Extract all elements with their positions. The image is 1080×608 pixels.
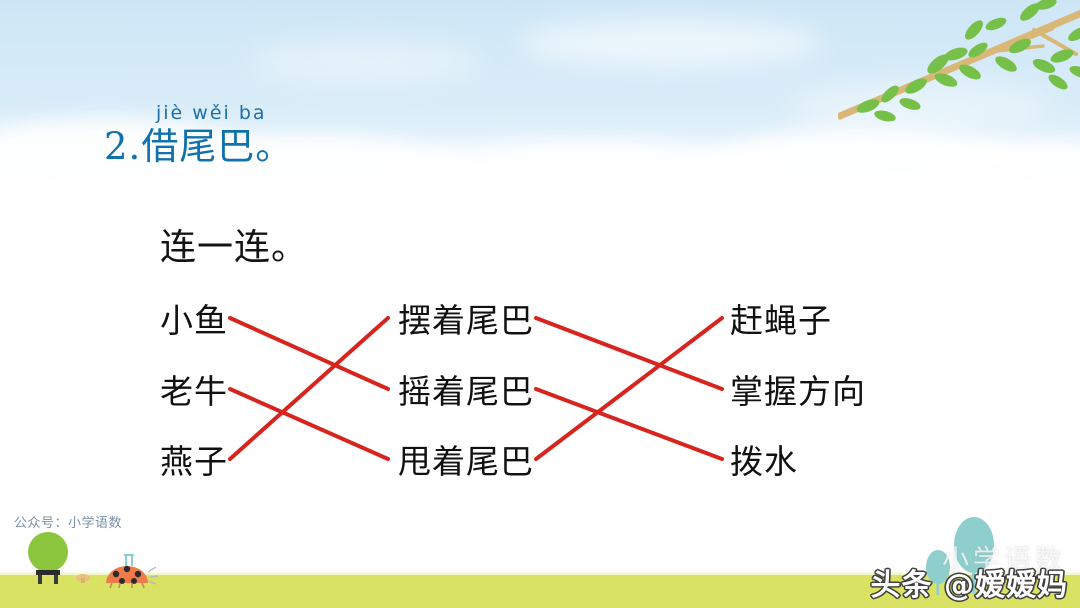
garden-decoration [14,528,164,588]
match-middle-item-1[interactable]: 摆着尾巴 [398,294,534,342]
title-block: jiè wěi ba 2.借尾巴。 [104,104,293,167]
ladybug-icon [106,554,158,588]
page-title: 2.借尾巴。 [104,128,293,167]
wechat-account-label: 公众号：小学语数 [14,512,122,531]
title-text: 借尾巴。 [141,125,293,168]
title-number: 2. [104,125,141,168]
slide-canvas: jiè wěi ba 2.借尾巴。 连一连。 小鱼 老牛 燕子 摆着尾巴 摇着尾… [0,0,1080,608]
match-left-item-1[interactable]: 小鱼 [160,294,228,342]
title-pinyin: jiè wěi ba [156,104,293,123]
match-right-item-1[interactable]: 赶蝇子 [730,294,832,342]
tree-icon [28,532,68,584]
exercise-prompt: 连一连。 [160,218,308,270]
watermark-text: 头条 @嫒嫒妈 [871,560,1068,604]
mushroom-icon [76,574,90,583]
match-right-item-2[interactable]: 掌握方向 [730,365,866,413]
match-left-item-3[interactable]: 燕子 [160,435,228,483]
match-left-item-2[interactable]: 老牛 [160,365,228,413]
match-middle-item-2[interactable]: 摇着尾巴 [398,365,534,413]
match-right-item-3[interactable]: 拨水 [730,435,798,483]
match-middle-item-3[interactable]: 甩着尾巴 [398,435,534,483]
